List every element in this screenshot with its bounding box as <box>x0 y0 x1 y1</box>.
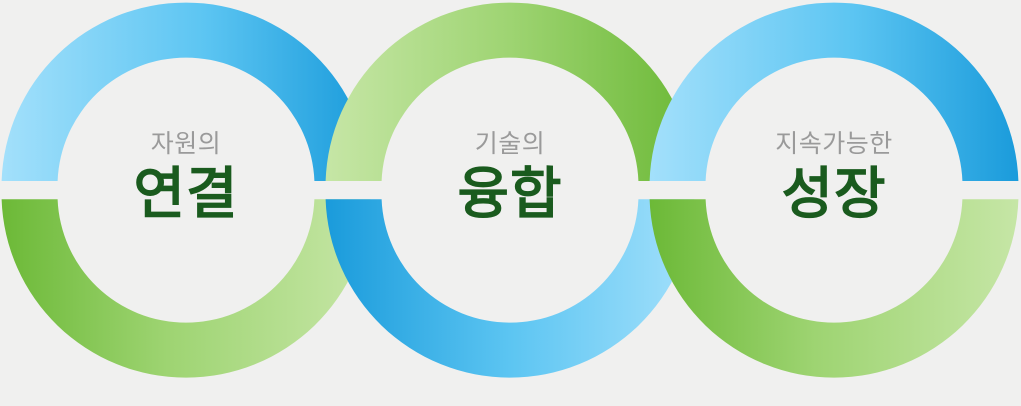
ring-connection-bottom-arc <box>2 199 371 377</box>
ring-growth-top-arc <box>650 3 1019 181</box>
ring-growth-bottom-arc <box>650 199 1019 377</box>
ring-convergence-graphic <box>326 3 695 378</box>
rings-diagram <box>0 0 1021 406</box>
infographic-canvas: 자원의 연결 기술의 융합 지속가능한 성장 <box>0 0 1021 406</box>
ring-convergence-top-arc <box>326 3 695 181</box>
ring-connection-graphic <box>2 3 371 378</box>
ring-convergence-bottom-arc <box>326 199 695 377</box>
ring-growth-graphic <box>650 3 1019 378</box>
ring-connection-top-arc <box>2 3 371 181</box>
